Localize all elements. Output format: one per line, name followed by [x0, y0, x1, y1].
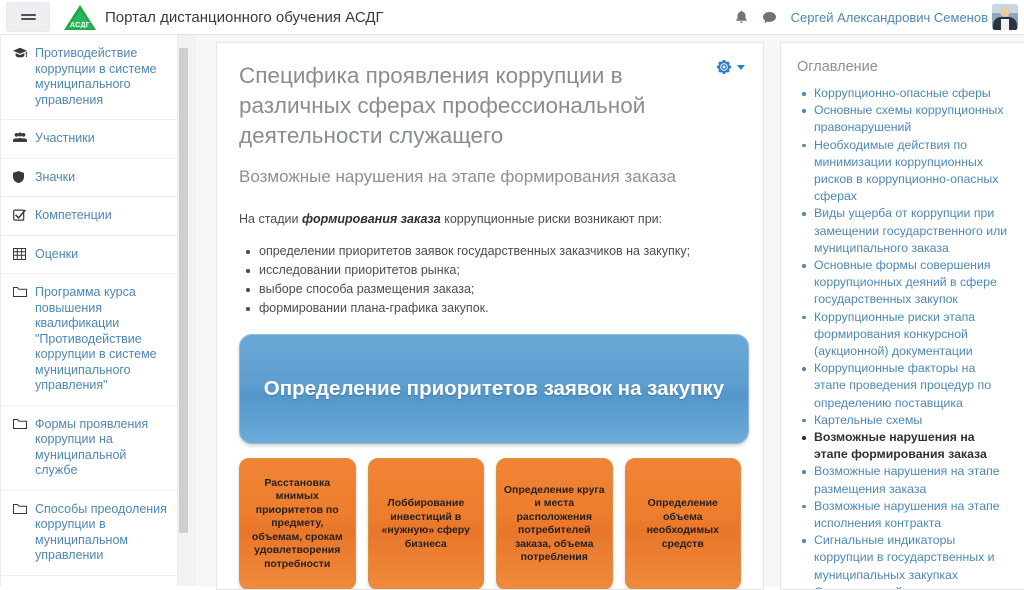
grid-icon: [13, 248, 30, 260]
diagram-box-label: Определение круга и места расположения п…: [503, 484, 606, 565]
top-navbar: АСДГ Портал дистанционного обучения АСДГ…: [0, 0, 1024, 35]
sidebar-item-label: Противодействие коррупции в системе муни…: [35, 46, 169, 108]
sidebar-item-label: Оценки: [35, 247, 78, 263]
toc-item[interactable]: Коррупционные факторы на этапе проведени…: [814, 360, 1010, 412]
toc-item[interactable]: Коррупционно-опасные сферы: [814, 85, 1010, 102]
diagram-box: Лоббирование инвестиций в «нужную» сферу…: [368, 458, 485, 590]
graduation-cap-icon: [13, 47, 30, 59]
site-brand-link[interactable]: АСДГ Портал дистанционного обучения АСДГ: [64, 5, 384, 30]
section-title: Возможные нарушения на этапе формировани…: [239, 165, 741, 189]
table-of-contents-card: Оглавление Коррупционно-опасные сферы Ос…: [780, 42, 1024, 590]
toc-item[interactable]: Основные формы совершения коррупционных …: [814, 257, 1010, 309]
diagram-children-row: Расстановка мнимых приоритетов по предме…: [239, 458, 741, 590]
sidebar-item-course[interactable]: Противодействие коррупции в системе муни…: [1, 35, 177, 120]
bell-icon[interactable]: [735, 10, 748, 24]
diagram-box: Определение объема необходимых средств: [625, 458, 742, 590]
drawer-scrollbar-thumb[interactable]: [179, 48, 188, 533]
toc-title: Оглавление: [797, 59, 1010, 75]
toc-item[interactable]: Виды ущерба от коррупции при замещении г…: [814, 205, 1010, 257]
lead-paragraph: На стадии формирования заказа коррупцион…: [239, 211, 741, 228]
risk-list: определении приоритетов заявок государст…: [239, 242, 741, 318]
toc-item-current: Возможные нарушения на этапе формировани…: [814, 429, 1010, 463]
sidebar-item-forms[interactable]: Формы проявления коррупции на муниципаль…: [1, 406, 177, 491]
diagram-box-label: Лоббирование инвестиций в «нужную» сферу…: [375, 497, 478, 551]
sidebar-item-badges[interactable]: Значки: [1, 159, 177, 198]
lead-emphasis: формирования заказа: [302, 212, 441, 226]
speech-bubble-icon[interactable]: [762, 11, 777, 24]
lesson-content-card: Специфика проявления коррупции в различн…: [216, 42, 764, 590]
diagram-header-box-label: Определение приоритетов заявок на закупк…: [244, 375, 744, 403]
toc-item[interactable]: Основные схемы коррупционных правонаруше…: [814, 102, 1010, 136]
logo-text: АСДГ: [64, 22, 96, 29]
lead-prefix: На стадии: [239, 212, 302, 226]
diagram: Определение приоритетов заявок на закупк…: [239, 334, 741, 590]
main-region: Специфика проявления коррупции в различн…: [196, 35, 1024, 586]
user-name-link[interactable]: Сергей Александрович Семенов: [791, 10, 988, 25]
diagram-box-label: Определение объема необходимых средств: [632, 497, 735, 551]
sidebar-item-next[interactable]: [1, 576, 177, 587]
list-item: исследовании приоритетов рынка;: [259, 261, 741, 280]
toc-item[interactable]: Социально-нейтральные индикаторы коррупц…: [814, 584, 1010, 590]
toc-item[interactable]: Необходимые действия по минимизации корр…: [814, 137, 1010, 206]
course-nav-list: Противодействие коррупции в системе муни…: [0, 35, 178, 586]
sidebar-item-grades[interactable]: Оценки: [1, 236, 177, 275]
sidebar-item-methods[interactable]: Способы преодоления коррупции в муниципа…: [1, 491, 177, 576]
folder-icon: [13, 418, 30, 429]
toc-item[interactable]: Возможные нарушения на этапе размещения …: [814, 463, 1010, 497]
lead-suffix: коррупционные риски возникают при:: [441, 212, 662, 226]
folder-icon: [13, 286, 30, 297]
sidebar-item-label: Способы преодоления коррупции в муниципа…: [35, 502, 169, 564]
navbar-right-group: Сергей Александрович Семенов: [735, 4, 1024, 30]
toc-item[interactable]: Коррупционные риски этапа формирования к…: [814, 309, 1010, 361]
avatar[interactable]: [992, 4, 1018, 30]
toc-item[interactable]: Картельные схемы: [814, 412, 1010, 429]
sidebar-item-label: Компетенции: [35, 208, 112, 224]
folder-icon: [13, 503, 30, 514]
toc-item[interactable]: Сигнальные индикаторы коррупции в госуда…: [814, 532, 1010, 584]
sidebar-item-competencies[interactable]: Компетенции: [1, 197, 177, 236]
gear-icon: [716, 59, 732, 75]
sidebar-item-participants[interactable]: Участники: [1, 120, 177, 159]
diagram-box-label: Расстановка мнимых приоритетов по предме…: [246, 477, 349, 572]
toc-item[interactable]: Возможные нарушения на этапе исполнения …: [814, 498, 1010, 532]
chevron-down-icon: [737, 65, 745, 70]
shield-icon: [13, 171, 30, 183]
diagram-box: Расстановка мнимых приоритетов по предме…: [239, 458, 356, 590]
sidebar-item-label: Программа курса повышения квалификации "…: [35, 285, 169, 394]
settings-menu-button[interactable]: [716, 59, 745, 75]
sidebar-item-program[interactable]: Программа курса повышения квалификации "…: [1, 274, 177, 406]
users-icon: [13, 132, 30, 143]
diagram-header-box: Определение приоритетов заявок на закупк…: [239, 334, 749, 444]
asdg-logo-icon: АСДГ: [64, 5, 96, 30]
course-nav-drawer: Противодействие коррупции в системе муни…: [0, 35, 196, 586]
sidebar-item-label: Значки: [35, 170, 75, 186]
page-body: Противодействие коррупции в системе муни…: [0, 35, 1024, 586]
list-item: выборе способа размещения заказа;: [259, 280, 741, 299]
sidebar-item-label: Участники: [35, 131, 95, 147]
list-item: формировании плана-графика закупок.: [259, 299, 741, 318]
page-title: Специфика проявления коррупции в различн…: [239, 61, 669, 151]
diagram-box: Определение круга и места расположения п…: [496, 458, 613, 590]
checkbox-icon: [13, 209, 30, 221]
list-item: определении приоритетов заявок государст…: [259, 242, 741, 261]
toc-list: Коррупционно-опасные сферы Основные схем…: [797, 85, 1010, 590]
burger-icon: [21, 12, 36, 22]
site-title: Портал дистанционного обучения АСДГ: [105, 9, 384, 26]
menu-toggle-button[interactable]: [6, 2, 50, 32]
sidebar-item-label: Формы проявления коррупции на муниципаль…: [35, 417, 169, 479]
